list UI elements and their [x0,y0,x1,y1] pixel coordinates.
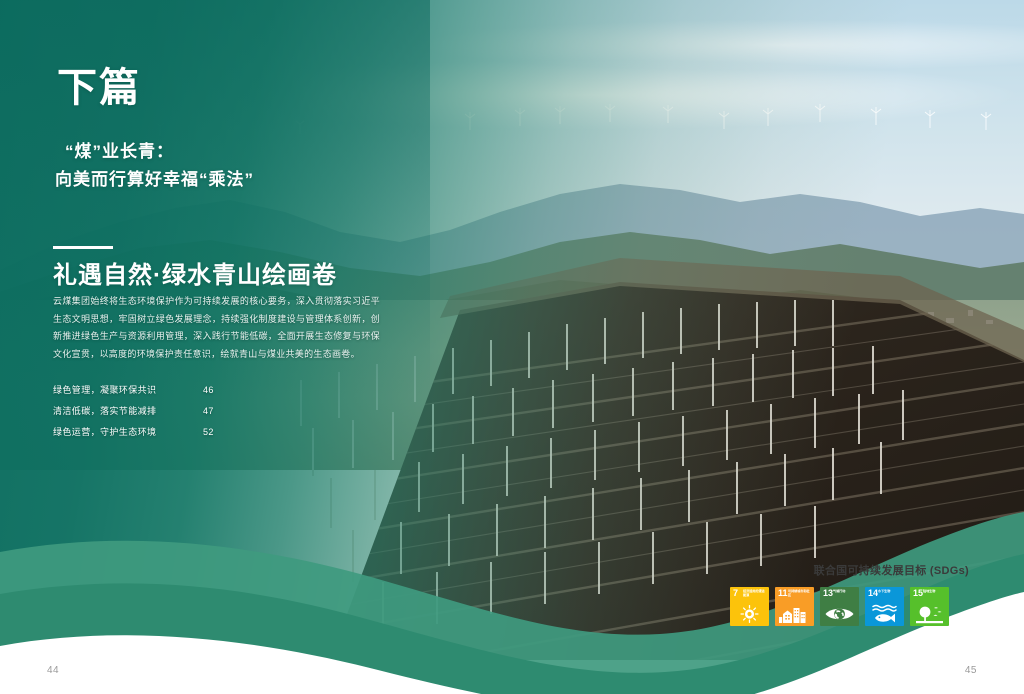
tree-birds-icon [910,601,949,625]
toc-row[interactable]: 清洁低碳，落实节能减排 47 [53,407,283,416]
sdg-goal-number: 11 [778,589,788,598]
sdg-goal-7[interactable]: 7 经济适用的清洁能源 [730,587,769,626]
subtitle-line-1: “煤”业长青： [55,138,385,166]
magazine-spread: 下篇 “煤”业长青： 向美而行算好幸福“乘法” 礼遇自然·绿水青山绘画卷 云煤集… [0,0,1024,694]
page-number-right: 45 [965,665,977,676]
sun-icon [730,601,769,625]
toc-page-number: 47 [203,407,214,416]
sdg-heading: 联合国可持续发展目标 (SDGs) [730,562,975,578]
sdg-goal-label: 水下生物 [878,590,902,594]
sdg-goal-11[interactable]: 11 可持续城市和社区 [775,587,814,626]
toc-label: 绿色运营，守护生态环境 [53,428,203,437]
toc-label: 绿色管理，凝聚环保共识 [53,386,203,395]
toc-row[interactable]: 绿色运营，守护生态环境 52 [53,428,283,437]
text-column: 下篇 “煤”业长青： 向美而行算好幸福“乘法” 礼遇自然·绿水青山绘画卷 云煤集… [0,0,460,660]
sdg-goal-number: 7 [733,589,738,598]
toc-page-number: 46 [203,386,214,395]
title-divider-rule [53,246,113,249]
sdg-goal-number: 14 [868,589,878,598]
toc-label: 清洁低碳，落实节能减排 [53,407,203,416]
fish-icon [865,601,904,625]
section-title: 礼遇自然·绿水青山绘画卷 [53,255,337,290]
sdg-goal-label: 陆地生物 [923,590,947,594]
sdg-goal-label: 经济适用的清洁能源 [743,590,767,598]
chapter-subtitle: “煤”业长青： 向美而行算好幸福“乘法” [55,138,385,193]
sdg-goal-number: 15 [913,589,923,598]
sdg-goal-number: 13 [823,589,833,598]
sdg-goal-label: 可持续城市和社区 [788,590,812,598]
table-of-contents: 绿色管理，凝聚环保共识 46 清洁低碳，落实节能减排 47 绿色运营，守护生态环… [53,386,283,449]
sdg-goal-15[interactable]: 15 陆地生物 [910,587,949,626]
body-paragraph: 云煤集团始终将生态环境保护作为可持续发展的核心要务，深入贯彻落实习近平生态文明思… [53,293,380,363]
toc-row[interactable]: 绿色管理，凝聚环保共识 46 [53,386,283,395]
sdg-goal-13[interactable]: 13 气候行动 [820,587,859,626]
page-number-left: 44 [47,665,59,676]
sdg-goal-label: 气候行动 [833,590,857,594]
sdg-icon-row: 7 经济适用的清洁能源 [730,587,975,626]
toc-page-number: 52 [203,428,214,437]
eye-globe-icon [820,601,859,625]
subtitle-line-2: 向美而行算好幸福“乘法” [55,166,385,194]
city-icon [775,601,814,625]
sdg-block: 联合国可持续发展目标 (SDGs) 7 经济适用的清洁能源 [730,562,975,626]
chapter-label: 下篇 [57,68,141,108]
sdg-goal-14[interactable]: 14 水下生物 [865,587,904,626]
